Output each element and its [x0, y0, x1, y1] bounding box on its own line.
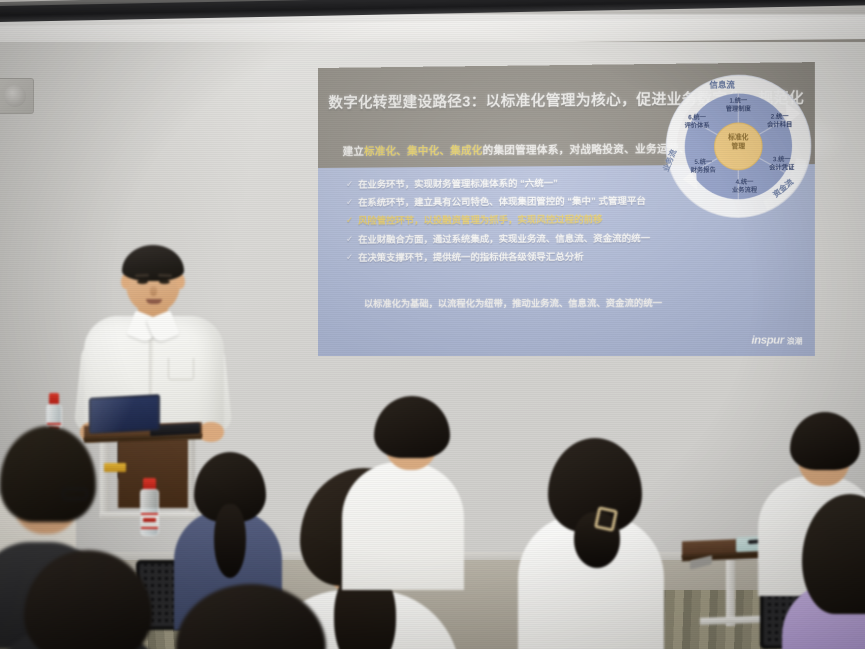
shirt-pocket: [168, 358, 194, 380]
glasses-icon: [62, 488, 88, 500]
list-item: ✓ 在业财融合方面，通过系统集成，实现业务流、信息流、资金流的统一: [346, 233, 650, 245]
presenter-nose: [150, 286, 157, 296]
check-icon: ✓: [346, 198, 353, 208]
ring-label-information-flow: 信息流: [709, 78, 734, 90]
segment-6: 6.统一 评价体系: [677, 114, 718, 130]
presenter-eye-left: [137, 280, 148, 284]
standardization-cycle-diagram: 信息流 业务流 资金流 1.统一 管理制度 2.统一 会计科目 3.统一 会计凭…: [660, 68, 817, 224]
laptop-screen-glare: [89, 394, 160, 434]
presenter-eye-right: [159, 280, 170, 284]
diagram-core-label: 标准化 管理: [718, 134, 759, 152]
bullet-text: 在决策支撑环节，提供统一的指标供各级领导汇总分析: [358, 252, 584, 264]
segment-3: 3.统一 会计凭证: [761, 156, 802, 172]
logo-text-cn: 浪潮: [787, 335, 803, 346]
segment-5: 5.统一 财务报告: [683, 159, 724, 175]
bullet-text: 风险管控环节，以投融资管理为抓手，实现风控过程的前移: [358, 215, 602, 227]
presenter-hair: [122, 245, 184, 281]
segment-2-line2: 会计科目: [759, 121, 800, 129]
inspur-logo: inspur 浪潮: [751, 334, 802, 346]
bullet-text: 在业财融合方面，通过系统集成，实现业务流、信息流、资金流的统一: [358, 233, 650, 245]
segment-6-line2: 评价体系: [677, 122, 718, 130]
presenter-mouth: [146, 299, 162, 304]
sticky-note: [104, 463, 126, 472]
segment-2: 2.统一 会计科目: [759, 113, 800, 129]
bullet-text: 在业务环节，实现财务管理标准体系的 “六统一”: [358, 178, 558, 190]
segment-1-line2: 管理制度: [718, 105, 759, 113]
core-line1: 标准化: [718, 134, 759, 143]
ac-vent-icon: [0, 78, 34, 114]
segment-5-line2: 财务报告: [683, 166, 724, 174]
list-item: ✓ 风险管控环节，以投融资管理为抓手，实现风控过程的前移: [346, 214, 650, 227]
bottle-label: [141, 513, 158, 528]
subtitle-highlight: 标准化、集中化、集成化: [364, 145, 483, 158]
slide-footer-text: 以标准化为基础，以流程化为纽带，推动业务流、信息流、资金流的统一: [346, 295, 681, 310]
check-icon: ✓: [346, 234, 353, 244]
check-icon: ✓: [346, 216, 353, 226]
core-line2: 管理: [718, 143, 759, 152]
segment-1: 1.统一 管理制度: [718, 97, 759, 113]
projected-slide: 数字化转型建设路径3：以标准化管理为核心，促进业务数字化、规范化 建立标准化、集…: [318, 62, 815, 356]
slide-bullet-list: ✓ 在业务环节，实现财务管理标准体系的 “六统一” ✓ 在系统环节，建立具有公司…: [346, 178, 650, 271]
water-bottle-audience: [140, 478, 159, 536]
podium-leg-left: [100, 438, 109, 518]
audience-torso: [342, 462, 464, 590]
list-item: ✓ 在业务环节，实现财务管理标准体系的 “六统一”: [346, 178, 650, 191]
segment-4: 4.统一 业务流程: [724, 179, 765, 195]
desk-leg: [726, 554, 735, 626]
check-icon: ✓: [346, 253, 353, 263]
list-item: ✓ 在系统环节，建立具有公司特色、体现集团管控的 “集中” 式管理平台: [346, 196, 650, 209]
bullet-text: 在系统环节，建立具有公司特色、体现集团管控的 “集中” 式管理平台: [358, 196, 646, 209]
subtitle-part-1: 建立: [343, 146, 364, 158]
conference-room-photo: 数字化转型建设路径3：以标准化管理为核心，促进业务数字化、规范化 建立标准化、集…: [0, 0, 865, 649]
bottle-body: [140, 489, 159, 536]
ponytail: [214, 504, 246, 578]
check-icon: ✓: [346, 180, 353, 190]
segment-4-line2: 业务流程: [724, 186, 765, 194]
logo-text-en: inspur: [751, 334, 783, 346]
list-item: ✓ 在决策支撑环节，提供统一的指标供各级领导汇总分析: [346, 251, 650, 263]
segment-3-line2: 会计凭证: [761, 164, 802, 172]
